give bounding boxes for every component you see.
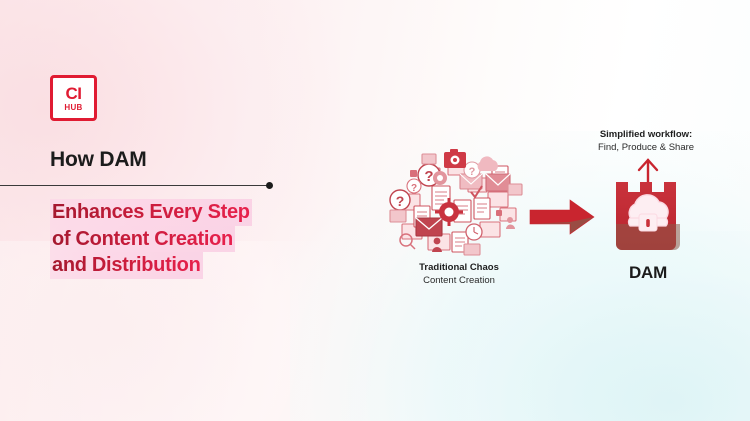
dam-castle-cloud-lock-icon (608, 158, 688, 262)
subtitle-block: Enhances Every Step of Content Creation … (50, 199, 300, 279)
subtitle-line-2-text: of Content Creation (52, 228, 233, 250)
simplified-workflow-title: Simplified workflow: (576, 128, 716, 141)
svg-text:?: ? (469, 166, 476, 178)
brand-logo: CI HUB (50, 75, 97, 121)
simplified-workflow-caption: Simplified workflow: Find, Produce & Sha… (576, 128, 716, 155)
right-arrow-icon (528, 198, 596, 238)
chaos-subtitle: Content Creation (380, 275, 538, 288)
page-title: How DAM (50, 148, 147, 172)
divider-line (0, 185, 268, 186)
subtitle-line-1-text: Enhances Every Step (52, 201, 250, 223)
chaos-caption: Traditional Chaos Content Creation (380, 262, 538, 288)
subtitle-line-3: and Distribution (50, 252, 203, 279)
simplified-workflow-subtitle: Find, Produce & Share (576, 141, 716, 154)
divider-end-dot (266, 182, 273, 189)
dam-label: DAM (578, 263, 718, 283)
brand-logo-ci-text: CI (66, 85, 82, 102)
slide-canvas: CI HUB How DAM Enhances Every Step of Co… (0, 0, 750, 421)
brand-logo-hub-text: HUB (64, 104, 82, 112)
workflow-diagram: ? ? ? ? (380, 120, 730, 310)
svg-text:?: ? (411, 183, 417, 194)
subtitle-line-1: Enhances Every Step (50, 199, 252, 226)
chaos-title: Traditional Chaos (380, 262, 538, 275)
svg-text:?: ? (424, 168, 433, 185)
subtitle-line-3-text: and Distribution (52, 254, 201, 276)
divider (0, 180, 275, 192)
subtitle-line-2: of Content Creation (50, 226, 235, 253)
svg-text:?: ? (396, 193, 405, 209)
chaos-cluster-icon: ? ? ? ? (388, 148, 528, 258)
